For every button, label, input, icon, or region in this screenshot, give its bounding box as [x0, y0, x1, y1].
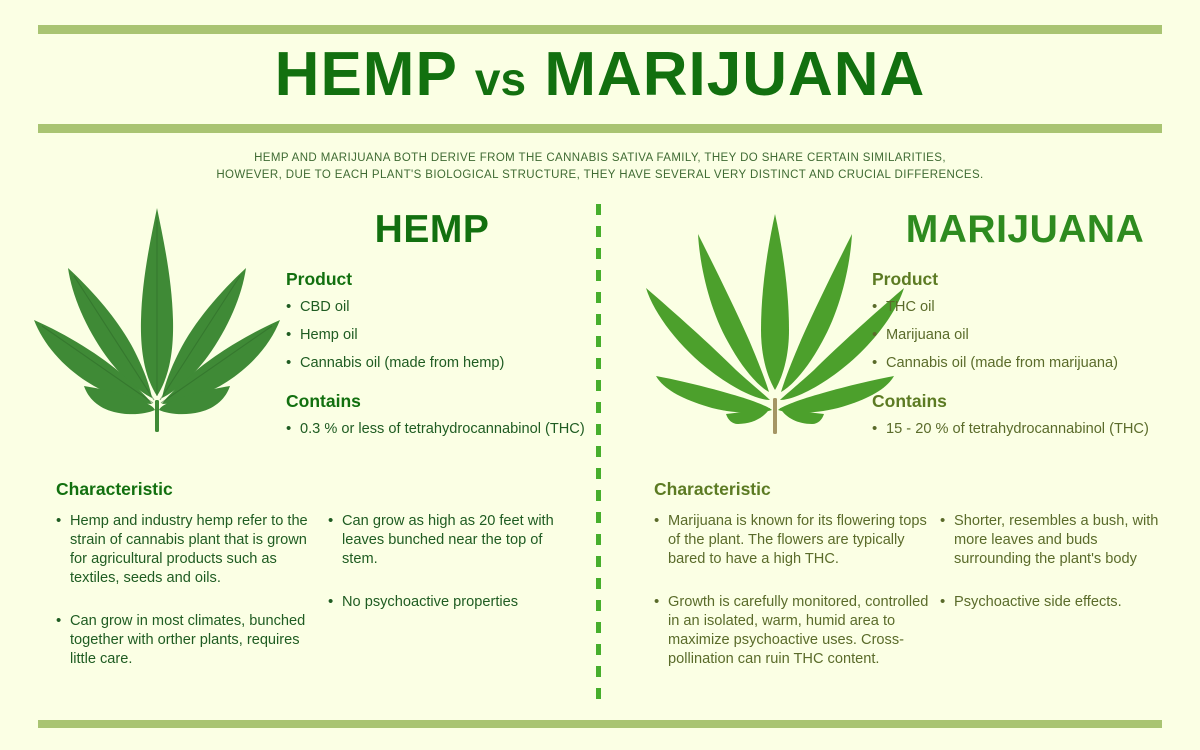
- center-dashed-divider: [596, 204, 601, 700]
- marijuana-contains-heading: Contains: [872, 390, 1172, 412]
- list-item: THC oil: [872, 298, 1172, 317]
- hemp-product-list: CBD oil Hemp oil Cannabis oil (made from…: [286, 298, 586, 373]
- list-item: Hemp oil: [286, 326, 586, 345]
- hemp-characteristic-list-right: Can grow as high as 20 feet with leaves …: [328, 512, 558, 612]
- list-item: Hemp and industry hemp refer to the stra…: [56, 512, 318, 588]
- marijuana-upper-block: Product THC oil Marijuana oil Cannabis o…: [872, 268, 1172, 448]
- list-item: Shorter, resembles a bush, with more lea…: [940, 512, 1166, 569]
- title-vs: vs: [475, 53, 526, 105]
- title-marijuana: MARIJUANA: [544, 40, 925, 109]
- bottom-divider-rule: [38, 720, 1162, 728]
- marijuana-characteristic-heading: Characteristic: [654, 478, 771, 500]
- list-item: No psychoactive properties: [328, 593, 558, 612]
- list-item: 0.3 % or less of tetrahydrocannabinol (T…: [286, 420, 586, 439]
- list-item: Marijuana is known for its flowering top…: [654, 512, 934, 569]
- subtitle: HEMP AND MARIJUANA BOTH DERIVE FROM THE …: [0, 150, 1200, 184]
- list-item: Can grow as high as 20 feet with leaves …: [328, 512, 558, 569]
- list-item: Cannabis oil (made from hemp): [286, 354, 586, 373]
- page-title: HEMP vs MARIJUANA: [0, 38, 1200, 116]
- marijuana-characteristic-column-right: Shorter, resembles a bush, with more lea…: [940, 512, 1166, 636]
- marijuana-characteristic-list-right: Shorter, resembles a bush, with more lea…: [940, 512, 1166, 612]
- hemp-contains-heading: Contains: [286, 390, 586, 412]
- marijuana-product-list: THC oil Marijuana oil Cannabis oil (made…: [872, 298, 1172, 373]
- marijuana-contains-list: 15 - 20 % of tetrahydrocannabinol (THC): [872, 420, 1172, 439]
- list-item: Marijuana oil: [872, 326, 1172, 345]
- list-item: Cannabis oil (made from marijuana): [872, 354, 1172, 373]
- hemp-characteristic-list-left: Hemp and industry hemp refer to the stra…: [56, 512, 318, 669]
- marijuana-characteristic-list-left: Marijuana is known for its flowering top…: [654, 512, 934, 669]
- subtitle-line-1: HEMP AND MARIJUANA BOTH DERIVE FROM THE …: [0, 150, 1200, 167]
- marijuana-product-heading: Product: [872, 268, 1172, 290]
- spacer: [286, 382, 586, 390]
- hemp-characteristic-column-left: Hemp and industry hemp refer to the stra…: [56, 512, 318, 693]
- hemp-column-heading: HEMP: [282, 208, 582, 252]
- spacer: [872, 382, 1172, 390]
- hemp-characteristic-heading: Characteristic: [56, 478, 173, 500]
- hemp-contains-list: 0.3 % or less of tetrahydrocannabinol (T…: [286, 420, 586, 439]
- marijuana-column-heading: MARIJUANA: [860, 208, 1190, 252]
- hemp-upper-block: Product CBD oil Hemp oil Cannabis oil (m…: [286, 268, 586, 448]
- hemp-product-heading: Product: [286, 268, 586, 290]
- title-underline-rule: [38, 124, 1162, 133]
- subtitle-line-2: HOWEVER, DUE TO EACH PLANT'S BIOLOGICAL …: [0, 167, 1200, 184]
- leaf-stem: [773, 398, 777, 434]
- list-item: Psychoactive side effects.: [940, 593, 1166, 612]
- list-item: 15 - 20 % of tetrahydrocannabinol (THC): [872, 420, 1172, 439]
- list-item: Growth is carefully monitored, controlle…: [654, 593, 934, 669]
- list-item: CBD oil: [286, 298, 586, 317]
- marijuana-characteristic-column-left: Marijuana is known for its flowering top…: [654, 512, 934, 693]
- top-divider-rule: [38, 25, 1162, 34]
- leaf-veins: [42, 220, 272, 403]
- list-item: Can grow in most climates, bunched toget…: [56, 612, 318, 669]
- hemp-leaf-illustration: [22, 200, 292, 435]
- infographic-page: HEMP vs MARIJUANA HEMP AND MARIJUANA BOT…: [0, 0, 1200, 750]
- hemp-characteristic-column-right: Can grow as high as 20 feet with leaves …: [328, 512, 558, 636]
- title-hemp: HEMP: [275, 40, 457, 109]
